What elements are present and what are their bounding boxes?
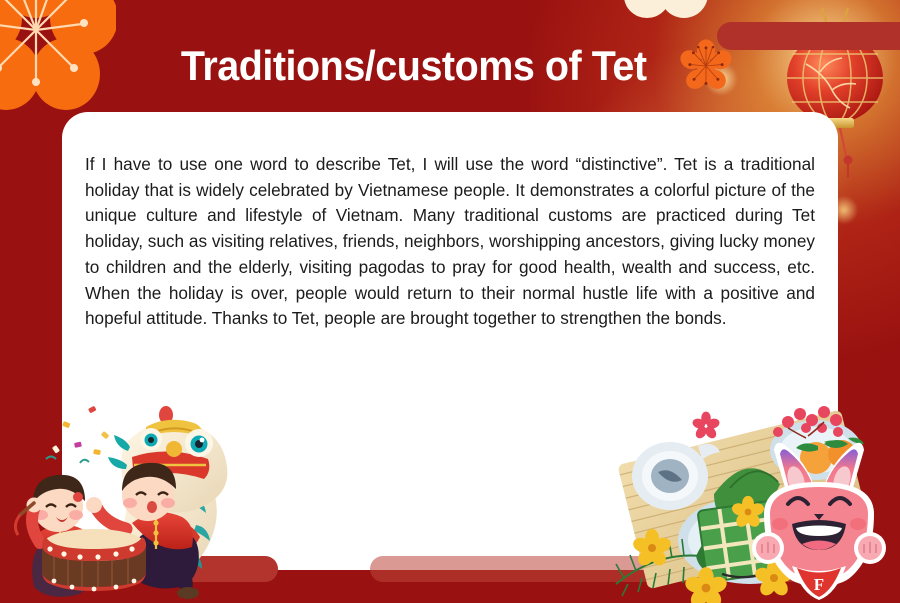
cloud-shape bbox=[624, 0, 708, 32]
bokeh-dot bbox=[792, 36, 814, 58]
mascot-badge-letter: F bbox=[814, 575, 824, 594]
page-title-row: Traditions/customs of Tet bbox=[0, 38, 900, 94]
apricot-blossom-icon bbox=[0, 0, 116, 114]
slide-canvas: Traditions/customs of Tet bbox=[0, 0, 900, 603]
decorative-bar bbox=[717, 22, 900, 50]
bokeh-dot bbox=[704, 62, 738, 96]
apricot-blossom-icon bbox=[678, 38, 734, 94]
content-card: If I have to use one word to describe Te… bbox=[62, 112, 838, 570]
page-title: Traditions/customs of Tet bbox=[181, 45, 647, 87]
body-paragraph: If I have to use one word to describe Te… bbox=[85, 152, 815, 332]
